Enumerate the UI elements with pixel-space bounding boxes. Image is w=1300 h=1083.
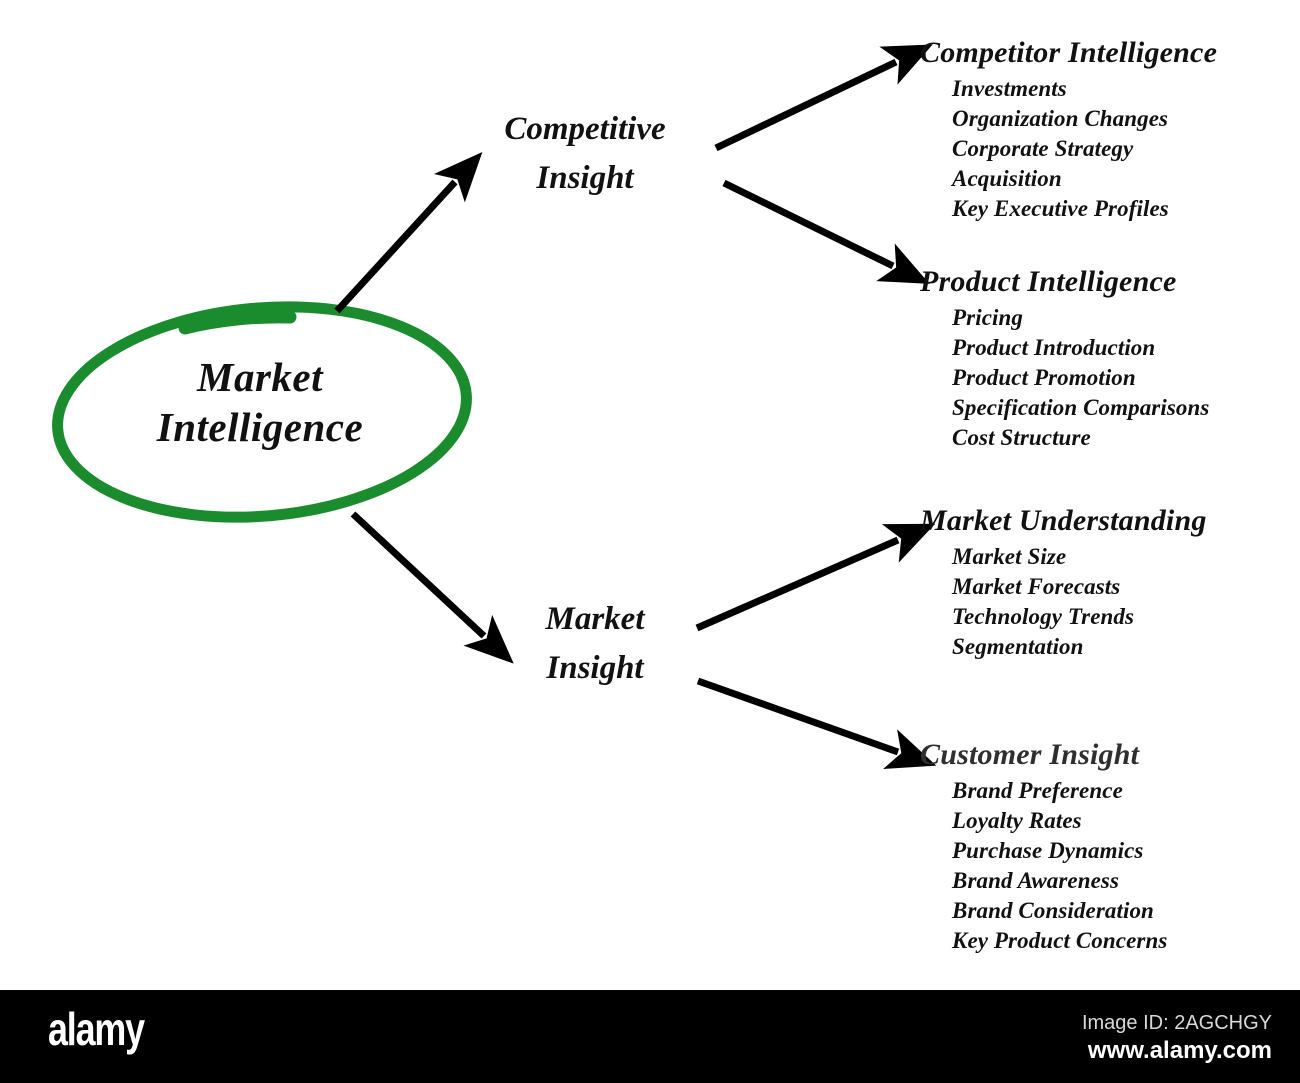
- branch-label-market-line-2: Insight: [480, 644, 710, 693]
- list-item: Key Product Concerns: [952, 926, 1290, 956]
- list-item: Organization Changes: [952, 104, 1290, 134]
- list-item: Brand Awareness: [952, 866, 1290, 896]
- image-id-label: Image ID: 2AGCHGY: [1082, 1010, 1272, 1036]
- list-item: Cost Structure: [952, 423, 1290, 453]
- arrow-competitive-to-product: [724, 183, 893, 266]
- branch-label-market-line-1: Market: [480, 595, 710, 644]
- section-title: Product Intelligence: [920, 265, 1290, 299]
- watermark-footer-bar: alamy Image ID: 2AGCHGY www.alamy.com: [0, 990, 1300, 1083]
- list-item: Market Size: [952, 542, 1290, 572]
- list-item: Specification Comparisons: [952, 393, 1290, 423]
- branch-label-competitive-line-1: Competitive: [470, 105, 700, 154]
- section-market-understanding: Market Understanding Market Size Market …: [920, 504, 1290, 662]
- section-customer-insight: Customer Insight Brand Preference Loyalt…: [920, 738, 1290, 956]
- section-competitor-intelligence: Competitor Intelligence Investments Orga…: [920, 36, 1290, 224]
- list-item: Technology Trends: [952, 602, 1290, 632]
- section-item-list: Investments Organization Changes Corpora…: [952, 74, 1290, 224]
- branch-label-competitive-line-2: Insight: [470, 154, 700, 203]
- list-item: Brand Preference: [952, 776, 1290, 806]
- arrow-center-to-market: [353, 514, 484, 636]
- list-item: Loyalty Rates: [952, 806, 1290, 836]
- list-item: Corporate Strategy: [952, 134, 1290, 164]
- list-item: Product Promotion: [952, 363, 1290, 393]
- list-item: Purchase Dynamics: [952, 836, 1290, 866]
- section-item-list: Pricing Product Introduction Product Pro…: [952, 303, 1290, 453]
- section-item-list: Brand Preference Loyalty Rates Purchase …: [952, 776, 1290, 956]
- list-item: Acquisition: [952, 164, 1290, 194]
- arrow-competitive-to-competitor: [716, 62, 896, 148]
- list-item: Segmentation: [952, 632, 1290, 662]
- watermark-meta: Image ID: 2AGCHGY www.alamy.com: [1082, 1010, 1272, 1066]
- list-item: Key Executive Profiles: [952, 194, 1290, 224]
- list-item: Investments: [952, 74, 1290, 104]
- alamy-url-label: www.alamy.com: [1082, 1036, 1272, 1066]
- list-item: Market Forecasts: [952, 572, 1290, 602]
- arrow-center-to-competitive: [337, 182, 455, 311]
- section-item-list: Market Size Market Forecasts Technology …: [952, 542, 1290, 662]
- list-item: Product Introduction: [952, 333, 1290, 363]
- center-node-line-1: Market: [60, 352, 460, 402]
- diagram-canvas: Market Intelligence Competitive Insight …: [0, 0, 1300, 1083]
- section-product-intelligence: Product Intelligence Pricing Product Int…: [920, 265, 1290, 453]
- branch-label-market-insight: Market Insight: [480, 595, 710, 693]
- center-node-line-2: Intelligence: [60, 402, 460, 452]
- alamy-logo: alamy: [48, 1006, 144, 1052]
- section-title: Customer Insight: [920, 738, 1290, 772]
- list-item: Brand Consideration: [952, 896, 1290, 926]
- center-node-market-intelligence: Market Intelligence: [60, 352, 460, 452]
- section-title: Market Understanding: [920, 504, 1290, 538]
- ellipse-overshoot-icon: [185, 317, 290, 328]
- branch-label-competitive-insight: Competitive Insight: [470, 105, 700, 203]
- arrow-market-to-customer: [698, 681, 898, 752]
- section-title: Competitor Intelligence: [920, 36, 1290, 70]
- list-item: Pricing: [952, 303, 1290, 333]
- arrow-market-to-understanding: [697, 540, 898, 628]
